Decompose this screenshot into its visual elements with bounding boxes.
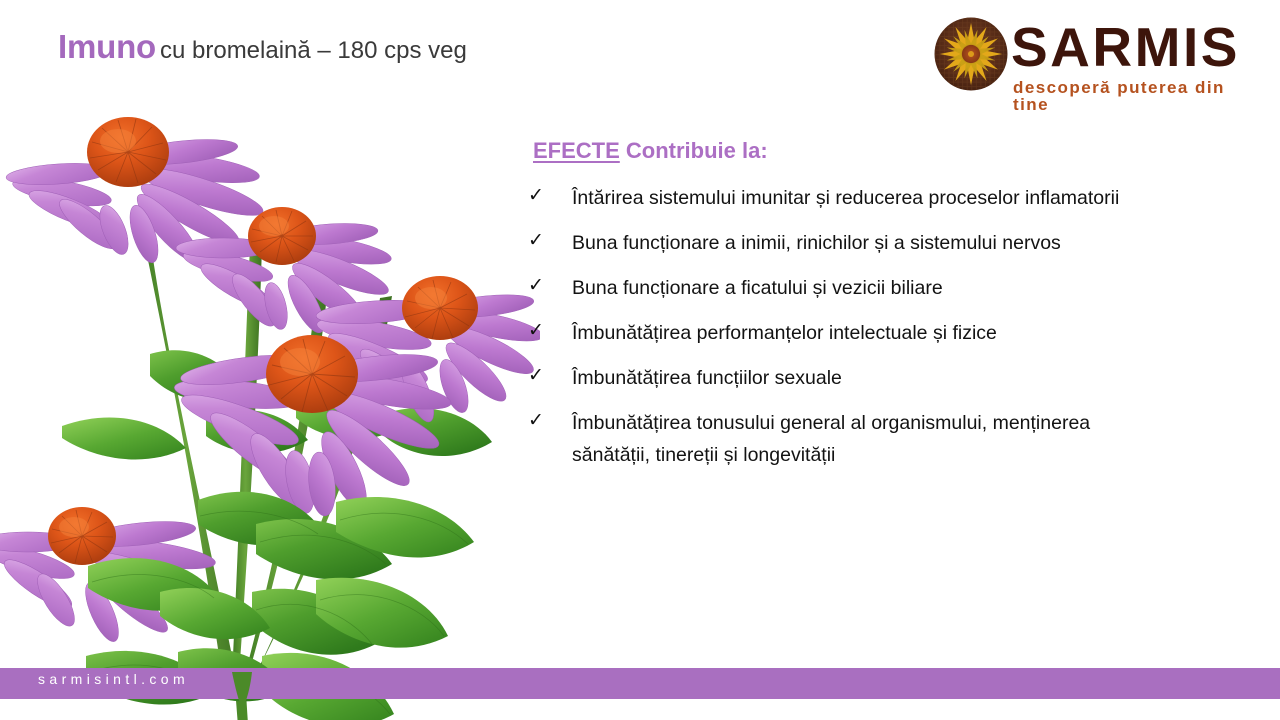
list-item: ✓ Îmbunătățirea funcțiilor sexuale [528, 362, 1268, 407]
footer-website[interactable]: sarmisintl.com [38, 671, 189, 687]
list-item: ✓ Întărirea sistemului imunitar și reduc… [528, 182, 1268, 227]
list-item: ✓ Îmbunătățirea performanțelor intelectu… [528, 317, 1268, 362]
list-item-label: Buna funcționare a ficatului și vezicii … [572, 272, 1268, 304]
list-item: ✓ Buna funcționare a ficatului și vezici… [528, 272, 1268, 317]
sun-star-emblem-icon [933, 16, 1009, 92]
check-icon: ✓ [528, 364, 558, 387]
list-item: ✓ Îmbunătățirea tonusului general al org… [528, 407, 1268, 471]
check-icon: ✓ [528, 229, 558, 252]
brand-logo[interactable]: SARMIS descoperă puterea din tine [933, 14, 1253, 106]
list-item-label: Buna funcționare a inimii, rinichilor și… [572, 227, 1268, 259]
list-item-label: Întărirea sistemului imunitar și reducer… [572, 182, 1268, 214]
echinacea-plant-photo [0, 96, 540, 720]
check-icon: ✓ [528, 274, 558, 297]
check-icon: ✓ [528, 184, 558, 207]
logo-tagline: descoperă puterea din tine [1013, 79, 1253, 113]
effects-bullet-list: ✓ Întărirea sistemului imunitar și reduc… [528, 182, 1268, 471]
title-subtitle: cu bromelaină – 180 cps veg [160, 37, 467, 64]
effects-heading-rest: Contribuie la: [620, 138, 768, 163]
list-item-label: Îmbunătățirea performanțelor intelectual… [572, 317, 1268, 349]
effects-heading: EFECTE Contribuie la: [533, 138, 768, 164]
list-item: ✓ Buna funcționare a inimii, rinichilor … [528, 227, 1268, 272]
list-item-label: Îmbunătățirea tonusului general al organ… [572, 407, 1268, 471]
list-item-label: Îmbunătățirea funcțiilor sexuale [572, 362, 1268, 394]
footer-bar [0, 668, 1280, 699]
check-icon: ✓ [528, 409, 558, 432]
page-title: Imunocu bromelaină – 180 cps veg [58, 30, 467, 63]
slide-root: Imunocu bromelaină – 180 cps veg [0, 0, 1280, 720]
effects-heading-underlined: EFECTE [533, 138, 620, 163]
logo-wordmark: SARMIS [1011, 20, 1240, 75]
title-product-name: Imuno [58, 28, 156, 65]
check-icon: ✓ [528, 319, 558, 342]
